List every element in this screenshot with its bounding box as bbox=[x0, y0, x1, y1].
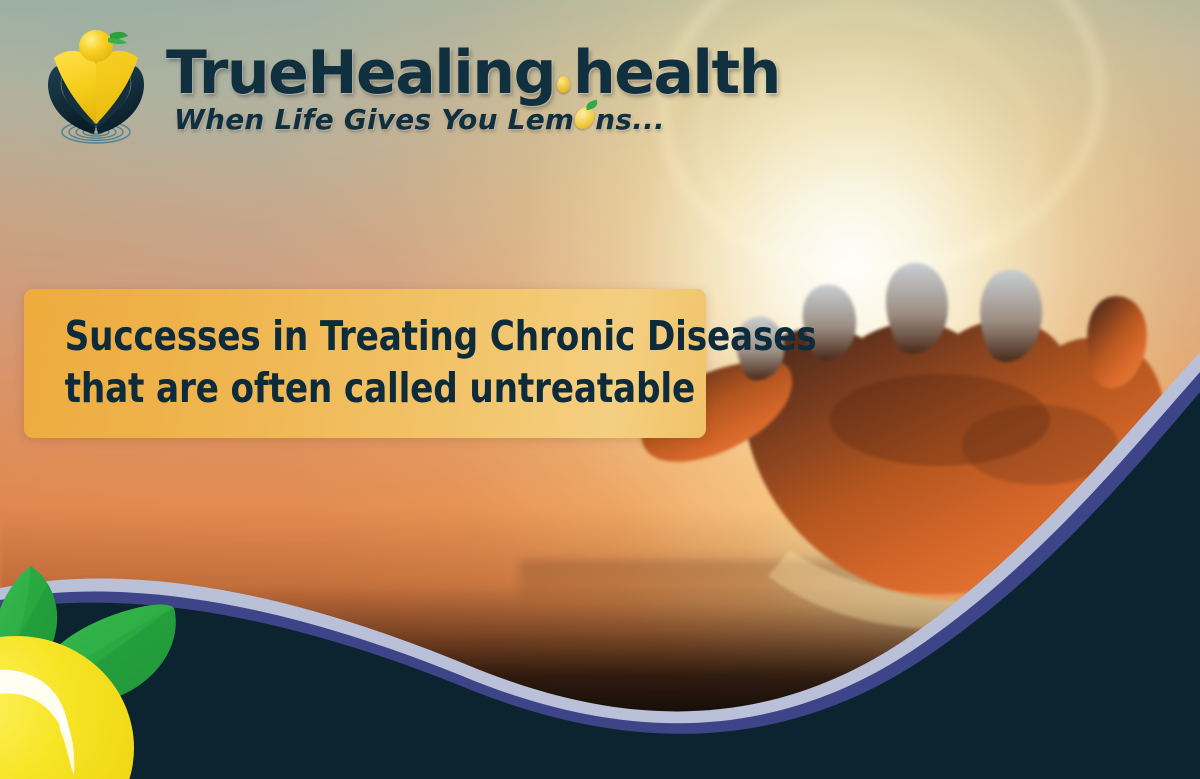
headline-banner: Successes in Treating Chronic Diseases t… bbox=[24, 289, 706, 438]
headline-line-1: Successes in Treating Chronic Diseases bbox=[65, 311, 666, 363]
site-logo[interactable]: TrueHealing health When Life Gives You L… bbox=[34, 20, 780, 152]
brand-wordmark: TrueHealing health bbox=[166, 43, 780, 103]
lemon-with-leaves-icon bbox=[0, 552, 218, 779]
promo-banner: TrueHealing health When Life Gives You L… bbox=[0, 0, 1200, 779]
lemon-o-icon bbox=[573, 107, 596, 129]
tagline-text-end: ns... bbox=[595, 105, 665, 136]
headline-line-2: that are often called untreatable bbox=[65, 363, 666, 415]
reaching-hand-icon bbox=[640, 220, 1200, 640]
hands-cradling-lemon-heart-icon bbox=[34, 20, 158, 152]
lemon-dot-icon bbox=[557, 76, 570, 93]
brand-tagline: When Life Gives You Lem ns... bbox=[166, 105, 780, 136]
brand-name-primary: TrueHealing bbox=[166, 43, 555, 103]
tagline-text-start: When Life Gives You Lem bbox=[174, 105, 574, 136]
brand-name-tld: health bbox=[573, 43, 780, 103]
